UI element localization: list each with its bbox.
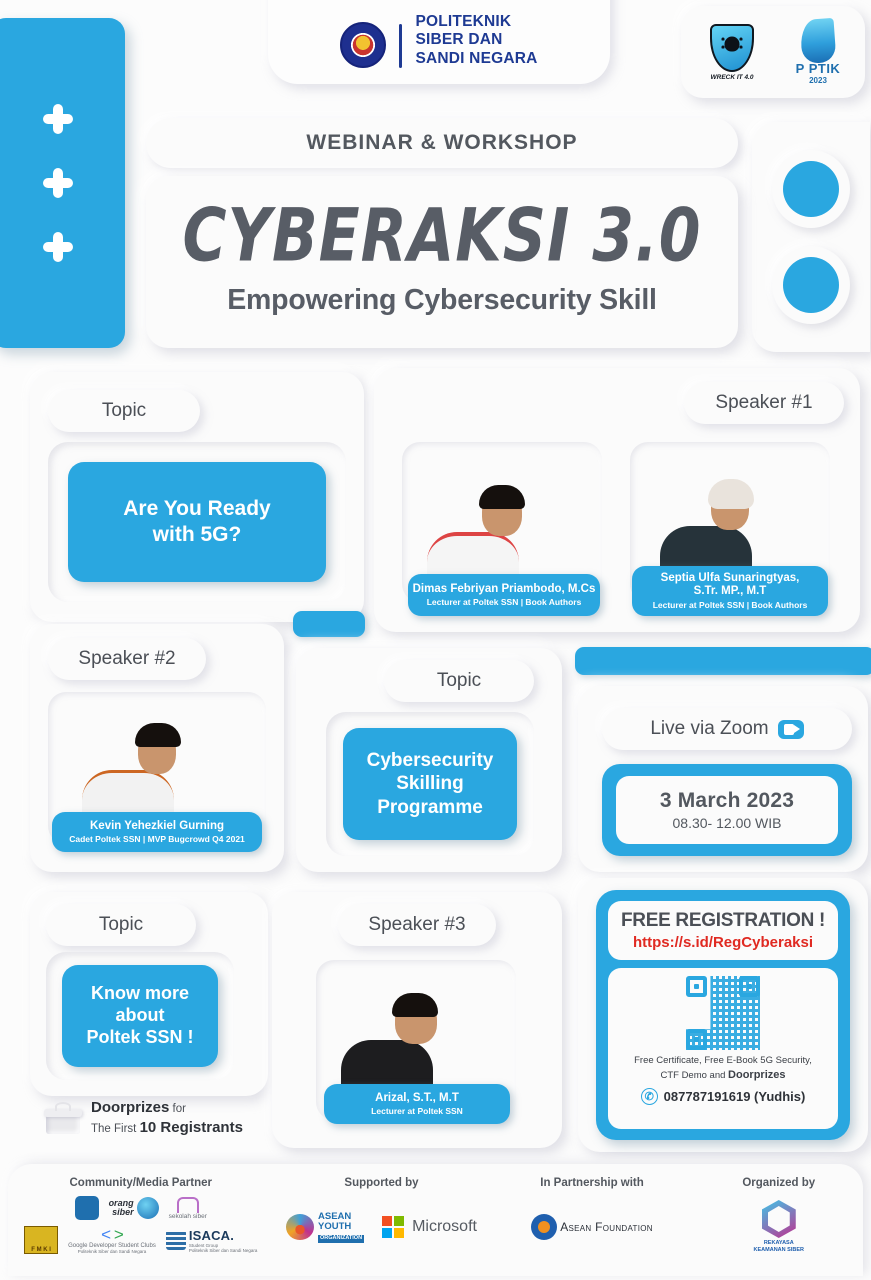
- topic-2-line-3: Programme: [377, 796, 483, 819]
- speaker-name: Dimas Febriyan Priambodo, M.Cs: [413, 583, 596, 597]
- plus-icon: [43, 232, 73, 262]
- doorprize-note: Doorprizes for The First 10 Registrants: [46, 1098, 243, 1139]
- speaker-name: Arizal, S.T., M.T: [375, 1092, 459, 1106]
- doorprize-line2-pre: The First: [91, 1123, 140, 1135]
- right-decorative-circles: [752, 122, 870, 352]
- decorative-bar-large: [575, 647, 871, 675]
- topic-card-2: Topic Cybersecurity Skilling Programme: [296, 648, 562, 872]
- rekayasa-keamanan-siber-logo: REKAYASA KEAMANAN SIBER: [754, 1200, 804, 1254]
- left-decorative-rail: [0, 18, 125, 348]
- poptik-logo: P PTIK 2023: [785, 19, 851, 85]
- sekolah-siber-logo: sekolah siber: [169, 1197, 207, 1220]
- platform-label: Live via Zoom: [650, 718, 768, 740]
- poptik-year: 2023: [785, 76, 851, 85]
- gift-icon: [46, 1102, 80, 1134]
- rks-line-2: KEAMANAN SIBER: [754, 1247, 804, 1253]
- footer-heading-supported: Supported by: [344, 1177, 418, 1189]
- institution-line-3: SANDI NEGARA: [415, 50, 537, 68]
- flame-icon: [800, 18, 837, 64]
- isaca-sub-2: Politeknik Siber dan Sandi Negara: [189, 1248, 258, 1253]
- rks-line-1: REKAYASA: [764, 1240, 794, 1246]
- institution-logo-card: POLITEKNIK SIBER DAN SANDI NEGARA: [268, 0, 610, 84]
- main-title-card: CYBERAKSI 3.0 Empowering Cybersecurity S…: [146, 176, 738, 348]
- page-title: CYBERAKSI 3.0: [182, 201, 701, 273]
- event-time: 08.30- 12.00 WIB: [673, 815, 782, 831]
- footer-column-supported: Supported by ASEAN YOUTH ORGANIZATION M: [273, 1164, 489, 1276]
- speaker-role: Lecturer at Poltek SSN | Book Authors: [427, 597, 582, 607]
- topic-2-line-2: Skilling: [396, 772, 464, 795]
- speaker-name-line-1: Septia Ulfa Sunaringtyas,: [661, 572, 800, 586]
- speaker-name-line-2: S.Tr. MP., M.T: [694, 585, 767, 599]
- topic-1-line-2: with 5G?: [153, 522, 242, 548]
- speaker-2-card: Speaker #2 Kevin Yehezkiel Gurning Cadet…: [30, 624, 284, 872]
- topic-3-line-3: Poltek SSN !: [86, 1027, 193, 1049]
- poster-root: POLITEKNIK SIBER DAN SANDI NEGARA WRECK …: [0, 0, 871, 1280]
- wreck-it-label: WRECK IT 4.0: [695, 74, 769, 81]
- plus-icon: [43, 104, 73, 134]
- topic-3-box: Know more about Poltek SSN !: [46, 952, 234, 1080]
- page-subtitle: Empowering Cybersecurity Skill: [227, 284, 657, 317]
- ayo-line-3: ORGANIZATION: [318, 1235, 364, 1243]
- speaker-name: Kevin Yehezkiel Gurning: [90, 820, 224, 834]
- asean-foundation-logo: Asean Foundation: [531, 1214, 653, 1240]
- event-type-ribbon: WEBINAR & WORKSHOP: [146, 118, 738, 168]
- speaker-group-1-card: Speaker #1 Dimas Febriyan Priambodo, M.C…: [374, 368, 860, 632]
- registration-note-line-2-pre: CTF Demo and: [660, 1070, 728, 1081]
- event-details-card: Live via Zoom 3 March 2023 08.30- 12.00 …: [578, 686, 868, 872]
- event-badges-card: WRECK IT 4.0 P PTIK 2023: [681, 6, 865, 98]
- speaker-role: Cadet Poltek SSN | MVP Bugcrowd Q4 2021: [69, 834, 245, 844]
- registration-inner: FREE REGISTRATION ! https://s.id/RegCybe…: [596, 890, 850, 1140]
- poltek-ssn-seal-icon: [340, 22, 386, 68]
- institution-name: POLITEKNIK SIBER DAN SANDI NEGARA: [415, 13, 537, 68]
- circle-icon: [772, 150, 850, 228]
- topic-3-line-2: about: [116, 1005, 165, 1027]
- registration-link[interactable]: https://s.id/RegCyberaksi: [614, 934, 832, 951]
- phone-number: 087787191619 (Yudhis): [664, 1089, 806, 1104]
- topic-2-label: Topic: [384, 660, 534, 702]
- orang-siber-line-2: siber: [109, 1208, 134, 1217]
- topic-1-text: Are You Ready with 5G?: [68, 462, 326, 582]
- topic-card-3: Topic Know more about Poltek SSN !: [30, 892, 268, 1096]
- footer-column-organized: Organized by REKAYASA KEAMANAN SIBER: [695, 1164, 863, 1276]
- divider: [399, 24, 402, 68]
- registration-note-doorprizes: Doorprizes: [728, 1069, 785, 1081]
- ayo-line-2: YOUTH: [318, 1222, 364, 1232]
- speaker-nameplate-dimas: Dimas Febriyan Priambodo, M.Cs Lecturer …: [408, 574, 600, 616]
- poptik-label: P PTIK: [785, 61, 851, 76]
- qr-code-icon[interactable]: [686, 976, 760, 1050]
- speaker-nameplate-kevin: Kevin Yehezkiel Gurning Cadet Poltek SSN…: [52, 812, 262, 852]
- speaker-nameplate-septia: Septia Ulfa Sunaringtyas, S.Tr. MP., M.T…: [632, 566, 828, 616]
- topic-2-box: Cybersecurity Skilling Programme: [326, 712, 534, 856]
- circle-icon: [772, 246, 850, 324]
- registration-note-line-1: Free Certificate, Free E-Book 5G Securit…: [634, 1055, 812, 1066]
- phone-icon: [641, 1088, 658, 1105]
- footer-heading-community: Community/Media Partner: [69, 1177, 212, 1189]
- speaker-role: Lecturer at Poltek SSN: [371, 1106, 463, 1116]
- plus-icon: [43, 168, 73, 198]
- event-date: 3 March 2023: [660, 789, 794, 813]
- topic-2-line-1: Cybersecurity: [367, 749, 494, 772]
- topic-1-label: Topic: [48, 390, 200, 432]
- fmki-label: F M K I: [31, 1247, 51, 1253]
- sekolah-siber-label: sekolah siber: [169, 1213, 207, 1220]
- registration-card: FREE REGISTRATION ! https://s.id/RegCybe…: [578, 878, 868, 1152]
- platform-pill: Live via Zoom: [602, 708, 852, 750]
- microsoft-logo: Microsoft: [382, 1216, 477, 1238]
- institution-line-1: POLITEKNIK: [415, 13, 537, 31]
- registration-body: Free Certificate, Free E-Book 5G Securit…: [608, 968, 838, 1129]
- topic-1-box: Are You Ready with 5G?: [48, 442, 346, 602]
- speaker-3-card: Speaker #3 Arizal, S.T., M.T Lecturer at…: [272, 892, 562, 1148]
- fmki-logo: F M K I: [24, 1226, 58, 1254]
- speaker-nameplate-arizal: Arizal, S.T., M.T Lecturer at Poltek SSN: [324, 1084, 510, 1124]
- google-developer-student-clubs-logo: < > Google Developer Student Clubs Polit…: [68, 1226, 156, 1254]
- partners-footer: Community/Media Partner orang siber seko…: [8, 1164, 863, 1276]
- decorative-bar-small: [293, 611, 365, 637]
- topic-3-line-1: Know more: [91, 983, 189, 1005]
- speaker-2-label: Speaker #2: [48, 638, 206, 680]
- shield-bug-icon: [710, 24, 754, 72]
- doorprize-text: Doorprizes for The First 10 Registrants: [91, 1098, 243, 1139]
- institution-line-2: SIBER DAN: [415, 31, 537, 49]
- contact-phone: 087787191619 (Yudhis): [641, 1088, 806, 1105]
- microsoft-label: Microsoft: [412, 1218, 477, 1236]
- topic-3-text: Know more about Poltek SSN !: [62, 965, 218, 1067]
- doorprize-count: 10 Registrants: [140, 1119, 243, 1136]
- gdsc-sublabel: Politeknik Siber dan Sandi Negara: [68, 1249, 156, 1254]
- topic-2-text: Cybersecurity Skilling Programme: [343, 728, 517, 840]
- footer-column-community: Community/Media Partner orang siber seko…: [8, 1164, 273, 1276]
- registration-title: FREE REGISTRATION !: [614, 910, 832, 932]
- topic-3-label: Topic: [46, 904, 196, 946]
- registration-note: Free Certificate, Free E-Book 5G Securit…: [634, 1055, 812, 1083]
- isaca-label: ISACA.: [189, 1228, 258, 1243]
- topic-card-1: Topic Are You Ready with 5G?: [30, 372, 364, 622]
- zoom-camera-icon: [778, 720, 804, 739]
- topic-1-line-1: Are You Ready: [123, 496, 270, 522]
- speaker-3-label: Speaker #3: [338, 904, 496, 946]
- doorprize-bold: Doorprizes: [91, 1099, 169, 1116]
- cnnx-logo: [75, 1196, 99, 1220]
- registration-header: FREE REGISTRATION ! https://s.id/RegCybe…: [608, 901, 838, 960]
- speaker-role: Lecturer at Poltek SSN | Book Authors: [653, 600, 808, 610]
- speaker-1-label: Speaker #1: [684, 382, 844, 424]
- doorprize-for: for: [169, 1103, 186, 1115]
- footer-heading-partnership: In Partnership with: [540, 1177, 644, 1189]
- orang-siber-logo: orang siber: [109, 1197, 159, 1219]
- asean-youth-organization-logo: ASEAN YOUTH ORGANIZATION: [286, 1212, 364, 1243]
- footer-heading-organized: Organized by: [742, 1177, 815, 1189]
- isaca-logo: ISACA. Student Group Politeknik Siber da…: [166, 1228, 258, 1253]
- event-date-box: 3 March 2023 08.30- 12.00 WIB: [602, 764, 852, 856]
- footer-column-partnership: In Partnership with Asean Foundation: [490, 1164, 695, 1276]
- wreck-it-logo: WRECK IT 4.0: [695, 24, 769, 81]
- asean-foundation-label: Asean Foundation: [560, 1220, 653, 1234]
